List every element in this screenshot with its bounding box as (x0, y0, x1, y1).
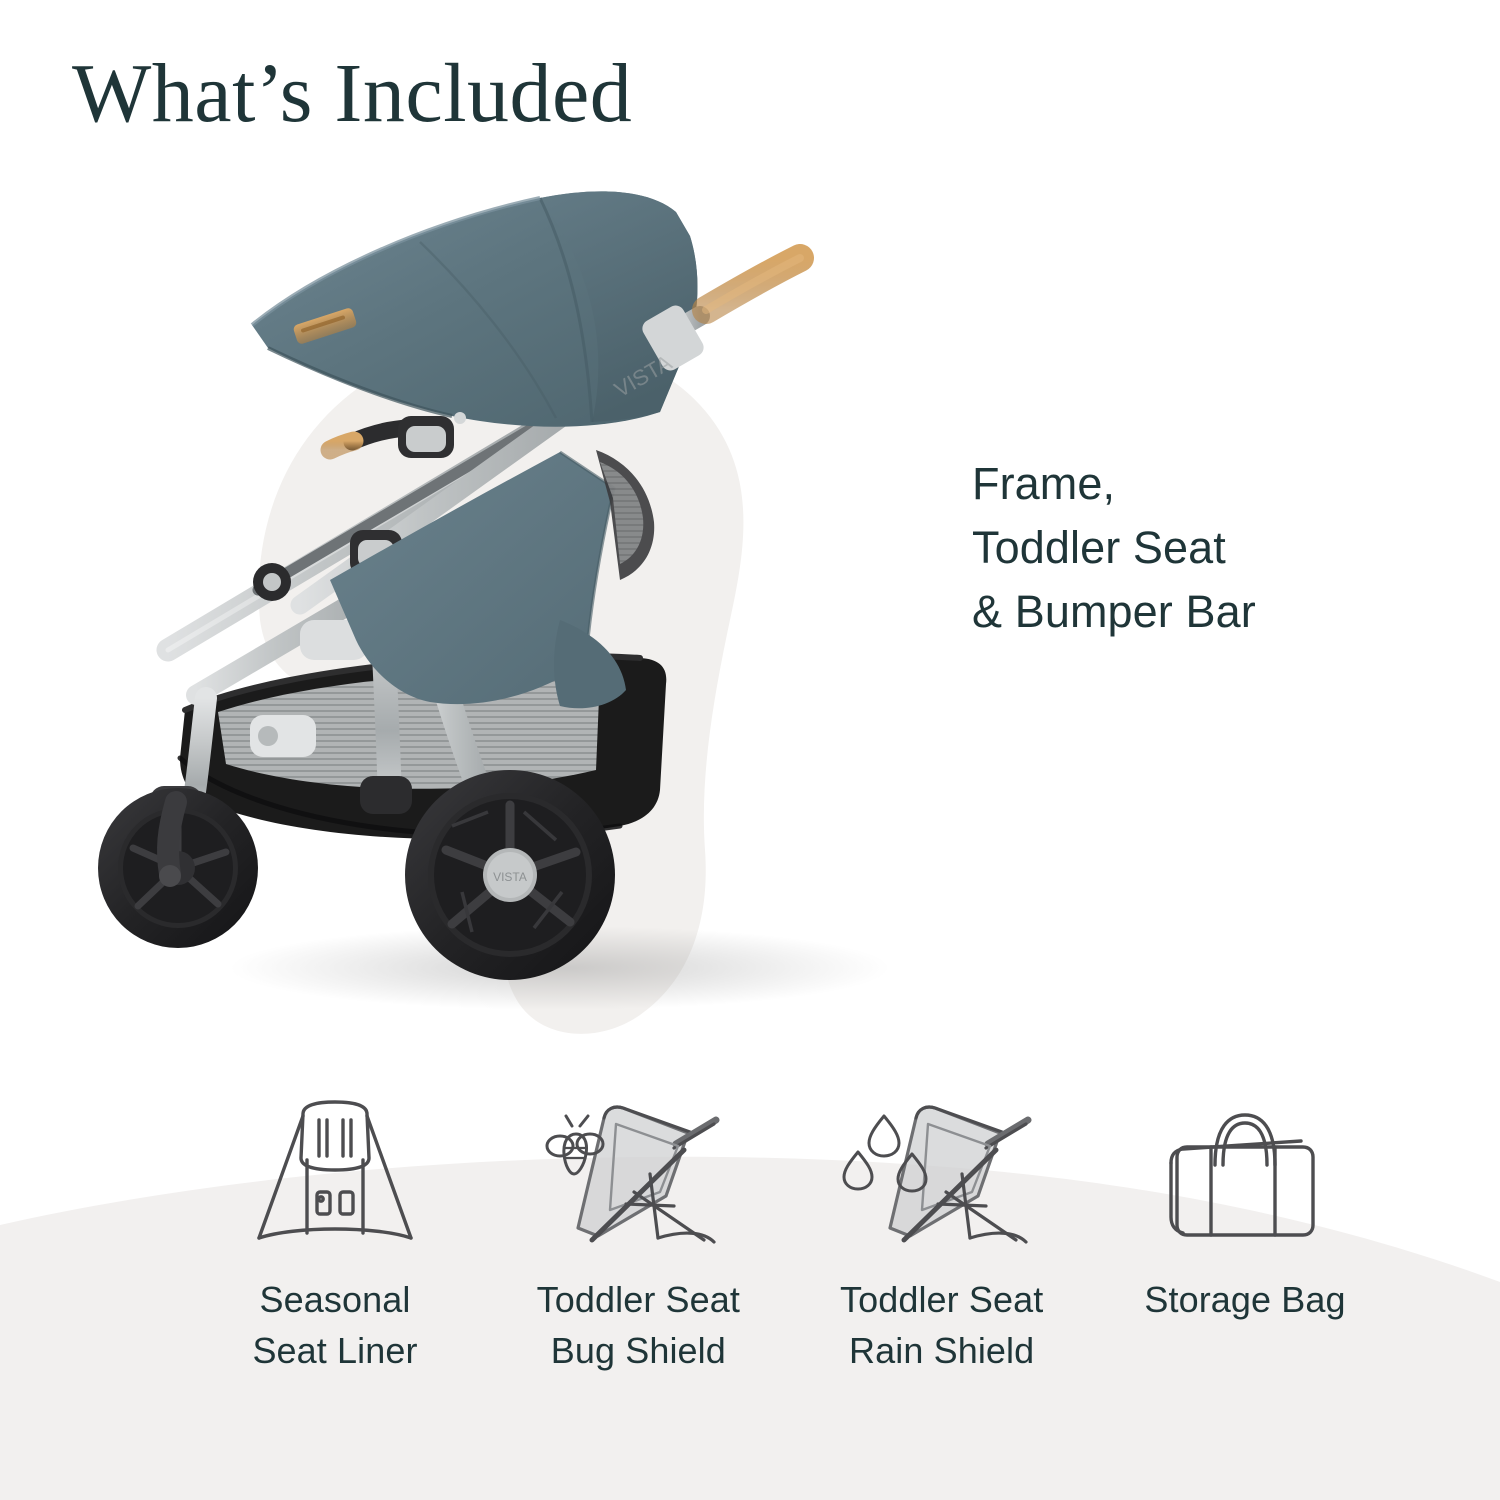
feature-toddler-seat-bug-shield[interactable]: Toddler Seat Bug Shield (503, 1100, 773, 1376)
infographic-root: VISTA (0, 0, 1500, 1500)
feature-seasonal-seat-liner[interactable]: Seasonal Seat Liner (200, 1100, 470, 1376)
hero-illustration: VISTA (0, 150, 1050, 1050)
features-row: Seasonal Seat Liner (200, 1100, 1380, 1420)
feature-label: Storage Bag (1144, 1274, 1345, 1325)
rear-wheel: VISTA (405, 770, 615, 980)
page-title: What’s Included (72, 52, 632, 136)
feature-storage-bag[interactable]: Storage Bag (1110, 1100, 1380, 1325)
rain-shield-icon (842, 1100, 1042, 1250)
feature-label: Toddler Seat Bug Shield (537, 1274, 740, 1376)
storage-bag-icon (1155, 1100, 1335, 1250)
hub-wordmark: VISTA (493, 870, 527, 884)
hero-caption: Frame, Toddler Seat & Bumper Bar (972, 452, 1256, 644)
bug-shield-icon (538, 1100, 738, 1250)
feature-label: Toddler Seat Rain Shield (840, 1274, 1043, 1376)
seat-liner-icon (245, 1100, 425, 1250)
feature-label: Seasonal Seat Liner (252, 1274, 417, 1376)
feature-toddler-seat-rain-shield[interactable]: Toddler Seat Rain Shield (807, 1100, 1077, 1376)
